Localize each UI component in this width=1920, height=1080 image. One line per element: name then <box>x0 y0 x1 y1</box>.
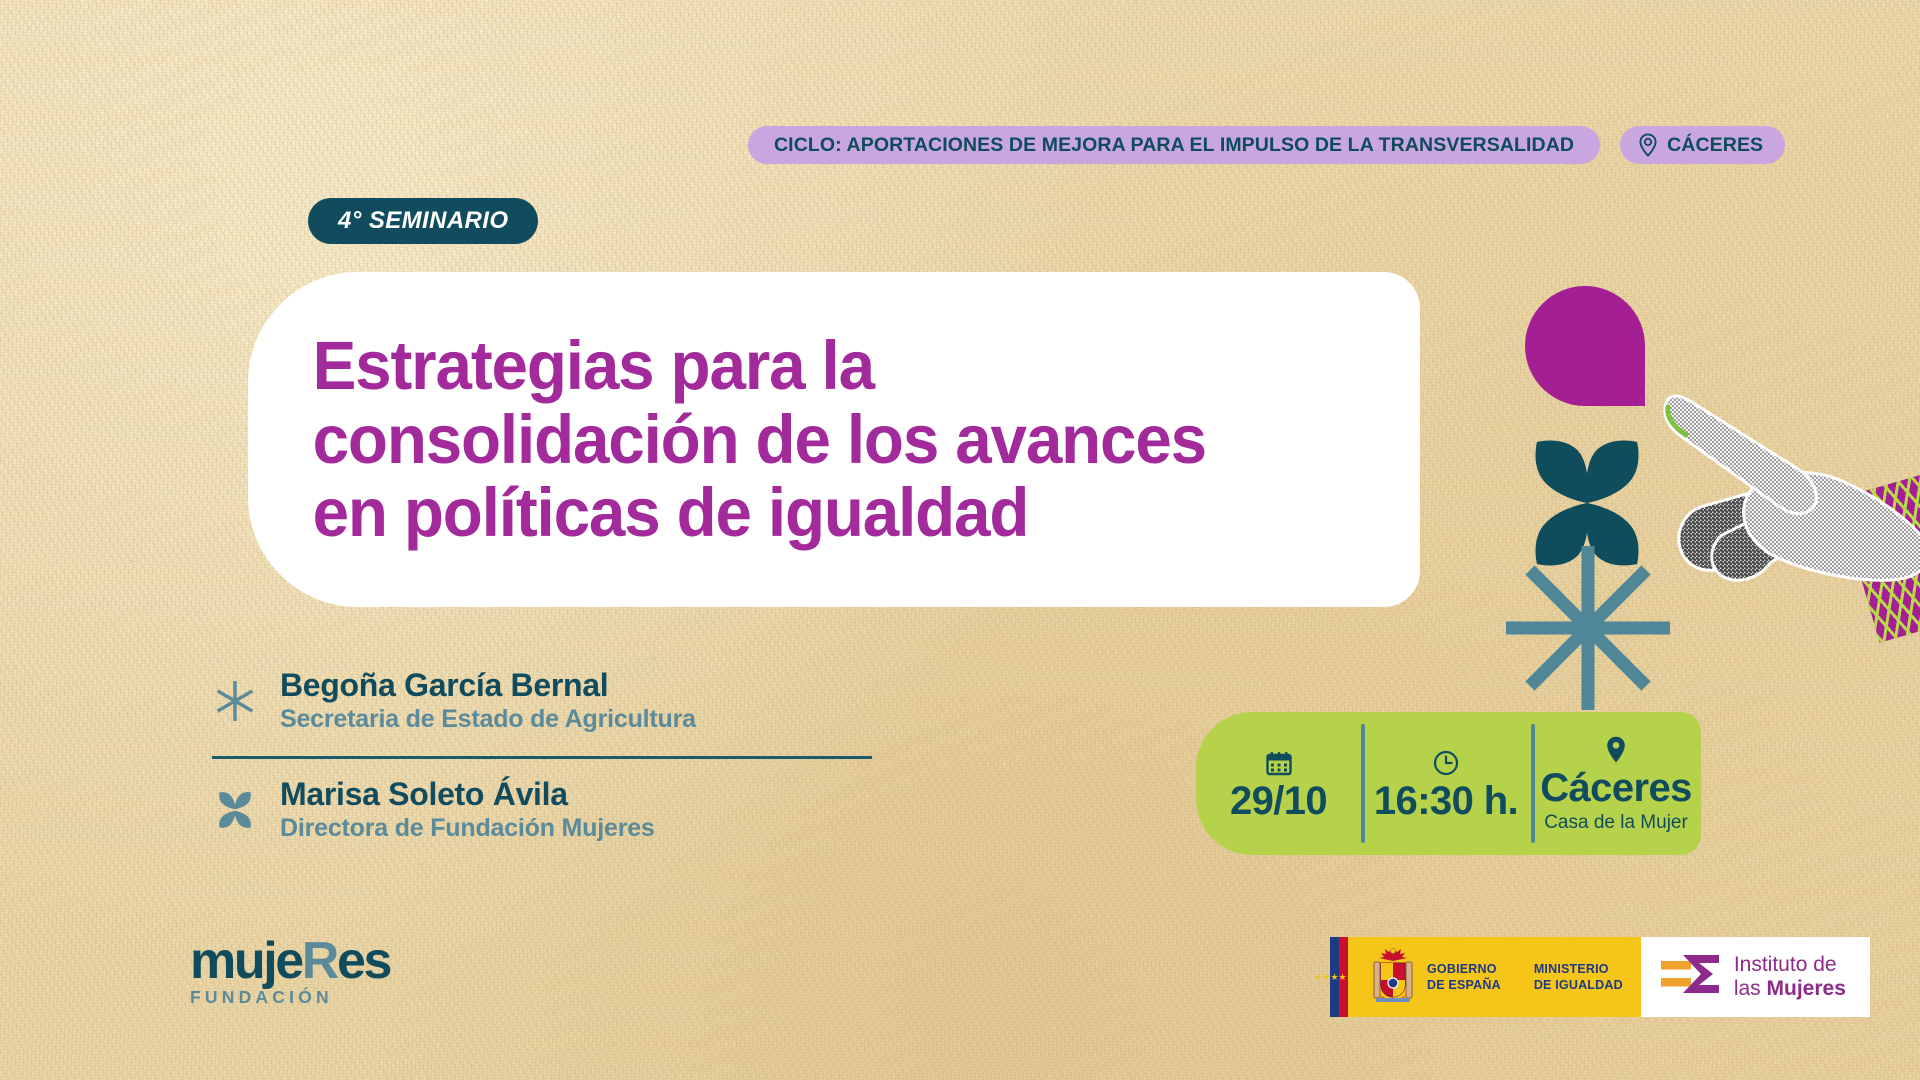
speaker-text: Begoña García Bernal Secretaria de Estad… <box>280 668 696 734</box>
pointing-hand-collage <box>1660 385 1920 675</box>
info-cell-date: 29/10 <box>1196 712 1361 855</box>
instituto-line-2: las Mujeres <box>1734 977 1846 1001</box>
fundacion-mujeres-subtitle: FUNDACIÓN <box>190 987 430 1008</box>
instituto-text: Instituto de las Mujeres <box>1734 953 1846 1001</box>
equality-sigma-icon <box>1661 951 1723 1004</box>
speaker-name: Marisa Soleto Ávila <box>280 777 655 813</box>
instituto-line-2-bold: Mujeres <box>1767 977 1846 1000</box>
seminar-badge: 4° SEMINARIO <box>308 198 538 244</box>
event-date: 29/10 <box>1230 781 1327 821</box>
spain-coat-of-arms-icon <box>1367 945 1419 1009</box>
ministerio-text: MINISTERIO DE IGUALDAD <box>1534 961 1623 994</box>
speaker-role: Directora de Fundación Mujeres <box>280 813 655 843</box>
fundacion-mujeres-wordmark: mujeRes <box>190 938 430 985</box>
eu-stars: ★★★★★ <box>1330 937 1339 1017</box>
event-info-box: 29/10 16:30 h. Cáceres Casa de la Mujer <box>1196 712 1701 855</box>
instituto-line-1: Instituto de <box>1734 953 1846 977</box>
speaker-item: Marisa Soleto Ávila Directora de Fundaci… <box>212 777 872 843</box>
info-cell-time: 16:30 h. <box>1361 712 1531 855</box>
ministerio-line-2: DE IGUALDAD <box>1534 977 1623 993</box>
clock-icon <box>1433 750 1459 776</box>
fm-word-part-4: es <box>337 932 390 990</box>
event-city: Cáceres <box>1540 768 1691 808</box>
map-pin-icon <box>1638 133 1658 157</box>
institutional-logos: ★★★★★ GOB <box>1330 937 1870 1017</box>
speaker-text: Marisa Soleto Ávila Directora de Fundaci… <box>280 777 655 843</box>
speaker-item: Begoña García Bernal Secretaria de Estad… <box>212 668 872 734</box>
title-card: Estrategias para la consolidación de los… <box>248 272 1420 607</box>
speaker-name: Begoña García Bernal <box>280 668 696 704</box>
cycle-label: CICLO: APORTACIONES DE MEJORA PARA EL IM… <box>774 134 1574 157</box>
title-line-1: Estrategias para la <box>313 329 1206 403</box>
instituto-line-2-regular: las <box>1734 977 1767 1000</box>
title-line-3: en políticas de igualdad <box>313 476 1206 550</box>
title-line-2: consolidación de los avances <box>313 403 1206 477</box>
info-cell-place: Cáceres Casa de la Mujer <box>1531 712 1701 855</box>
cycle-pill: CICLO: APORTACIONES DE MEJORA PARA EL IM… <box>748 126 1600 164</box>
eu-flag-bar: ★★★★★ <box>1330 937 1339 1017</box>
seminar-badge-label: 4° SEMINARIO <box>338 207 508 235</box>
location-label: CÁCERES <box>1667 134 1763 157</box>
speakers-list: Begoña García Bernal Secretaria de Estad… <box>212 668 872 843</box>
asterisk-shape-icon <box>1500 540 1676 716</box>
map-pin-icon <box>1606 737 1626 763</box>
gobierno-de-espana-logo: ★★★★★ GOB <box>1330 937 1641 1017</box>
fundacion-mujeres-logo: mujeRes FUNDACIÓN <box>190 938 430 1008</box>
fm-word-part-2: je <box>263 932 302 990</box>
petal-shape-icon <box>1525 286 1645 406</box>
top-bar: CICLO: APORTACIONES DE MEJORA PARA EL IM… <box>748 126 1785 164</box>
gobierno-line-1: GOBIERNO <box>1427 961 1501 977</box>
location-pill: CÁCERES <box>1620 126 1785 164</box>
calendar-icon <box>1266 750 1292 776</box>
page-title: Estrategias para la consolidación de los… <box>248 329 1240 550</box>
flower-icon <box>212 787 258 833</box>
speaker-divider <box>212 756 872 759</box>
fm-word-part-3: R <box>302 932 337 990</box>
ministerio-line-1: MINISTERIO <box>1534 961 1623 977</box>
fm-word-part-1: mu <box>190 932 263 990</box>
poster-canvas: CICLO: APORTACIONES DE MEJORA PARA EL IM… <box>0 0 1920 1080</box>
speaker-role: Secretaria de Estado de Agricultura <box>280 704 696 734</box>
instituto-de-las-mujeres-logo: Instituto de las Mujeres <box>1641 937 1870 1017</box>
gobierno-text: GOBIERNO DE ESPAÑA <box>1427 961 1501 994</box>
flag-bars: ★★★★★ <box>1330 937 1357 1017</box>
asterisk-icon <box>212 678 258 724</box>
event-time: 16:30 h. <box>1374 781 1518 821</box>
gobierno-line-2: DE ESPAÑA <box>1427 977 1501 993</box>
event-venue: Casa de la Mujer <box>1544 811 1688 835</box>
hand-illustration <box>1660 385 1920 675</box>
